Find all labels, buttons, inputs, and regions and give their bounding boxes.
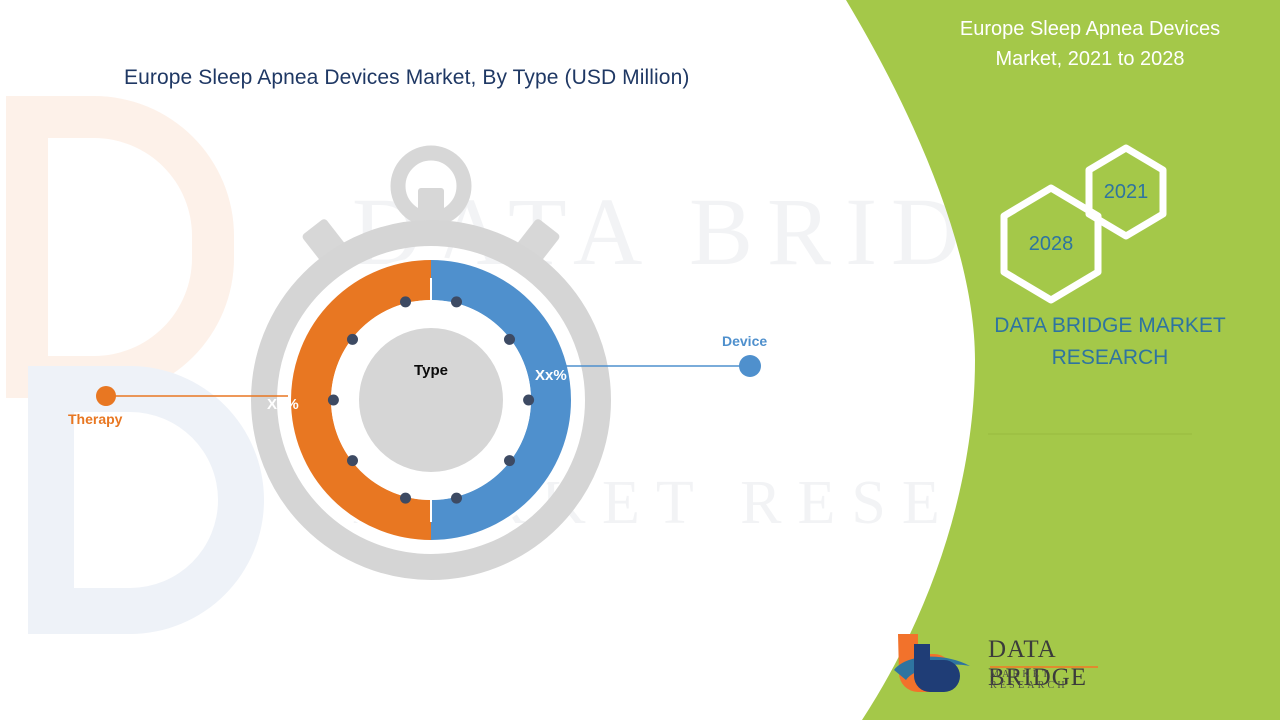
watermark-b-orange (6, 96, 234, 398)
panel-brand-line2: RESEARCH (960, 342, 1260, 374)
panel-title-line2: Market, 2021 to 2028 (900, 44, 1280, 74)
databridge-logo: DATA BRIDGE MARKET RESEARCH (892, 628, 1112, 694)
hexagon-2028 (1004, 188, 1098, 300)
panel-brand-text: DATA BRIDGE MARKET RESEARCH (960, 310, 1260, 374)
panel-title-line1: Europe Sleep Apnea Devices (900, 14, 1280, 44)
hexagon-2021 (1089, 148, 1163, 236)
panel-brand-line1: DATA BRIDGE MARKET (960, 310, 1260, 342)
donut-chart: Type (206, 126, 656, 596)
callout-label-device[interactable]: Device (722, 333, 767, 349)
leader-dot-therapy[interactable] (96, 386, 116, 406)
logo-text-main: DATA BRIDGE (988, 636, 1112, 692)
slice-percent-device: Xx% (535, 367, 567, 384)
panel-text-group: Europe Sleep Apnea Devices Market, 2021 … (900, 0, 1280, 720)
slice-percent-therapy: Xx% (267, 396, 299, 413)
hexagon-label-2028: 2028 (1014, 218, 1088, 270)
page-title: Europe Sleep Apnea Devices Market, By Ty… (124, 66, 689, 90)
dial-hub (359, 328, 503, 472)
infographic-canvas: DATA BRIDGE MARKET RESEARCH Europe Sleep… (0, 0, 1280, 720)
logo-text-sub: MARKET RESEARCH (990, 669, 1112, 691)
green-wave-shape (846, 0, 1280, 720)
callout-label-therapy[interactable]: Therapy (68, 411, 122, 427)
watermark-b-orange-stem (6, 96, 48, 398)
leader-dot-device[interactable] (739, 355, 761, 377)
logo-rule (990, 666, 1098, 668)
databridge-logo-mark (892, 630, 984, 692)
watermark-b-blue-stem (28, 366, 74, 634)
panel-title: Europe Sleep Apnea Devices Market, 2021 … (900, 14, 1280, 74)
hexagon-label-2021: 2021 (1089, 166, 1163, 218)
donut-chart-svg (206, 126, 656, 596)
